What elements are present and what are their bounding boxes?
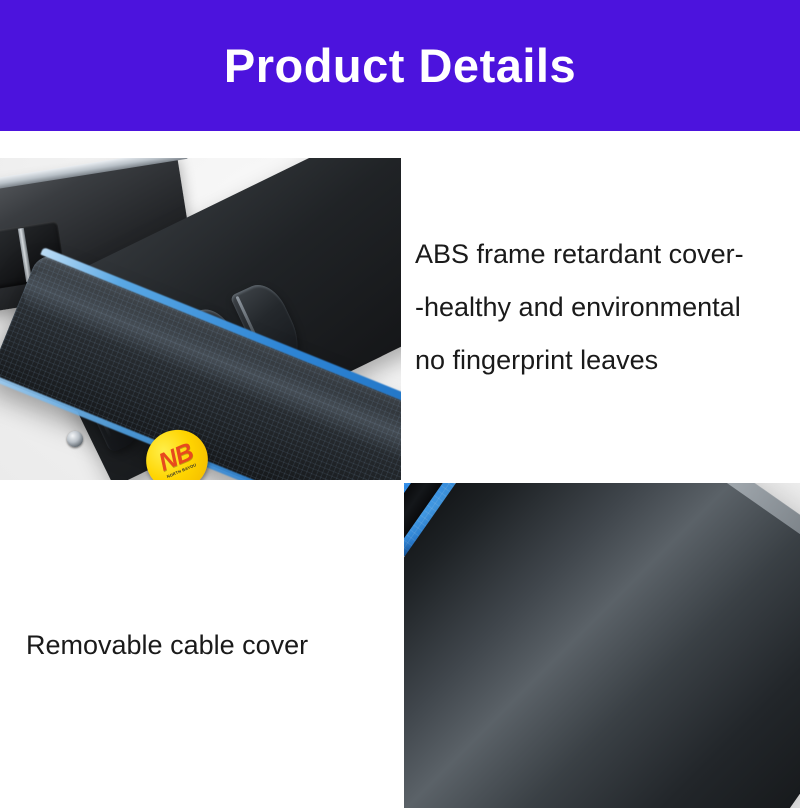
header-banner: Product Details [0,0,800,131]
product-details-page: Product Details NB [0,0,800,808]
hinge-screw [67,431,83,447]
feature-text-block: ABS frame retardant cover- -healthy and … [415,228,793,387]
product-photo-arm-cover: NB NORTH BAYOU [0,158,401,480]
monitor-arm-body [404,483,800,808]
feature-line-1: ABS frame retardant cover- [415,228,793,281]
feature-line-3: no fingerprint leaves [415,334,793,387]
feature-line-2: -healthy and environmental [415,281,793,334]
clip-photo-scene [404,483,800,808]
arm-photo-scene: NB NORTH BAYOU [0,158,401,480]
cable-cover-caption: Removable cable cover [26,627,308,663]
page-title: Product Details [224,42,576,89]
product-photo-cable-clips [404,483,800,808]
